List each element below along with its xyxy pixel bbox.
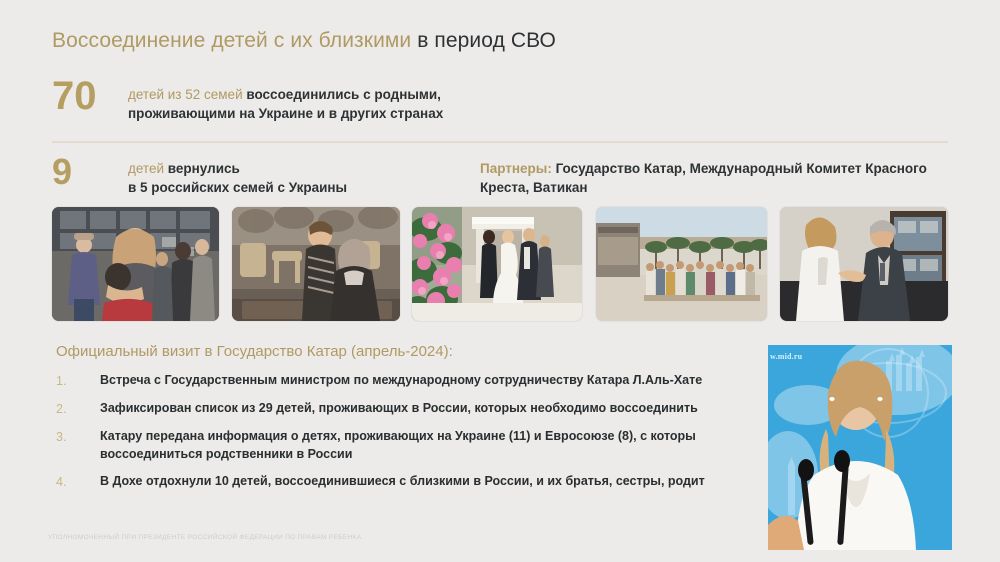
list-item-number: 3. bbox=[56, 427, 100, 446]
video-overlay-briefing[interactable]: w.mid.ru bbox=[768, 345, 952, 550]
stat-gold-phrase: детей из 52 семей bbox=[128, 87, 246, 102]
list-item-number: 2. bbox=[56, 399, 100, 418]
photo-airport-reunion bbox=[52, 207, 219, 321]
page-title: Воссоединение детей с их близкими в пери… bbox=[52, 29, 556, 53]
list-item-text: Зафиксирован список из 29 детей, прожива… bbox=[100, 399, 698, 417]
page-title-highlight: Воссоединение детей с их близкими bbox=[52, 29, 411, 52]
stat-block-70: 70 детей из 52 семей воссоединились с ро… bbox=[52, 76, 443, 123]
footer-credit: УПОЛНОМОЧЕННЫЙ ПРИ ПРЕЗИДЕНТЕ РОССИЙСКОЙ… bbox=[48, 534, 361, 541]
photo-boy-and-woman-interior bbox=[232, 207, 400, 321]
partners-block: Партнеры: Государство Катар, Международн… bbox=[480, 159, 950, 197]
stat-second-line: в 5 российских семей с Украины bbox=[128, 180, 347, 195]
slide-root: Воссоединение детей с их близкими в пери… bbox=[0, 0, 1000, 562]
stat-bold-phrase: воссоединились с родными, bbox=[246, 87, 441, 102]
photo-strip bbox=[52, 207, 948, 321]
list-item-number: 4. bbox=[56, 472, 100, 491]
list-item-number: 1. bbox=[56, 371, 100, 390]
stat-block-9: 9 детей вернулись в 5 российских семей с… bbox=[52, 153, 347, 197]
stat-second-line: проживающими на Украине и в других стран… bbox=[128, 106, 443, 121]
stat-gold-phrase: детей bbox=[128, 161, 168, 176]
page-title-rest: в период СВО bbox=[411, 29, 556, 52]
photo-official-handshake bbox=[780, 207, 948, 321]
visit-section-title: Официальный визит в Государство Катар (а… bbox=[56, 343, 453, 360]
stat-number: 70 bbox=[52, 76, 128, 116]
stat-description: детей из 52 семей воссоединились с родны… bbox=[128, 76, 443, 123]
list-item-text: В Дохе отдохнули 10 детей, воссоединивши… bbox=[100, 472, 705, 490]
section-divider bbox=[52, 141, 948, 143]
list-item-text: Катару передана информация о детях, прож… bbox=[100, 427, 696, 463]
stat-description: детей вернулись в 5 российских семей с У… bbox=[128, 153, 347, 197]
partners-label: Партнеры: bbox=[480, 161, 552, 176]
video-watermark-text: w.mid.ru bbox=[770, 352, 802, 361]
stat-number: 9 bbox=[52, 153, 128, 191]
photo-wedding-pavilion bbox=[412, 207, 582, 321]
list-item-text: Встреча с Государственным министром по м… bbox=[100, 371, 702, 389]
stat-bold-phrase: вернулись bbox=[168, 161, 240, 176]
photo-group-children-outdoors bbox=[596, 207, 767, 321]
